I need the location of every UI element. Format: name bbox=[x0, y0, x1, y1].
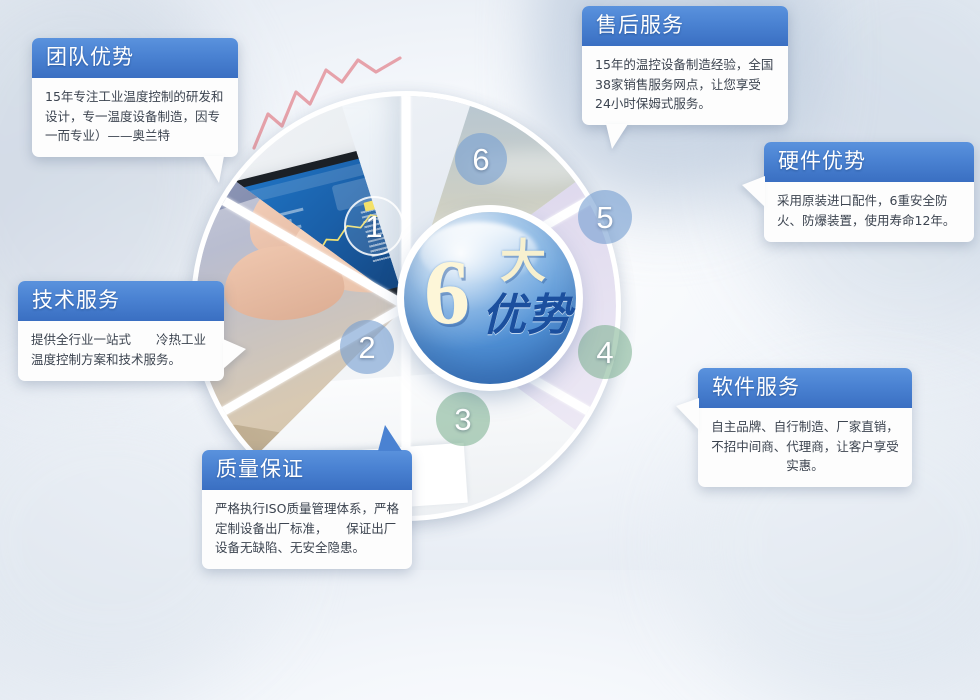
callout-hardware-title: 硬件优势 bbox=[764, 142, 974, 182]
callout-quality-tail bbox=[378, 425, 402, 451]
segment-number-5-label: 5 bbox=[596, 202, 613, 233]
callout-technical-body: 提供全行业一站式 冷热工业温度控制方案和技术服务。 bbox=[18, 321, 224, 381]
segment-number-3-label: 3 bbox=[454, 404, 471, 435]
callout-after-sales-tail bbox=[606, 124, 628, 149]
segment-number-6[interactable]: 6 bbox=[455, 133, 507, 185]
segment-number-3[interactable]: 3 bbox=[436, 392, 490, 446]
infographic-page: { "page": { "width": 980, "height": 570,… bbox=[0, 0, 980, 570]
callout-quality-body: 严格执行ISO质量管理体系，严格定制设备出厂标准， 保证出厂设备无缺陷、无安全隐… bbox=[202, 490, 412, 569]
segment-number-1-label: 1 bbox=[365, 211, 382, 242]
callout-hardware[interactable]: 硬件优势 采用原装进口配件，6重安全防火、防爆装置，使用寿命12年。 bbox=[764, 142, 974, 242]
callout-team[interactable]: 团队优势 15年专注工业温度控制的研发和设计，专一温度设备制造，因专一而专业）—… bbox=[32, 38, 238, 157]
callout-team-tail bbox=[203, 156, 224, 183]
callout-quality-title: 质量保证 bbox=[202, 450, 412, 490]
segment-number-4[interactable]: 4 bbox=[578, 325, 632, 379]
callout-hardware-body: 采用原装进口配件，6重安全防火、防爆装置，使用寿命12年。 bbox=[764, 182, 974, 242]
logo-label: 优势 bbox=[482, 294, 572, 338]
segment-number-4-label: 4 bbox=[596, 337, 613, 368]
callout-technical-tail bbox=[223, 339, 246, 369]
segment-number-2-label: 2 bbox=[358, 332, 375, 363]
callout-software-body: 自主品牌、自行制造、厂家直销，不招中间商、代理商，让客户享受实惠。 bbox=[698, 408, 912, 487]
callout-quality[interactable]: 质量保证 严格执行ISO质量管理体系，严格定制设备出厂标准， 保证出厂设备无缺陷… bbox=[202, 450, 412, 569]
callout-after-sales-body: 15年的温控设备制造经验，全国38家销售服务网点，让您享受24小时保姆式服务。 bbox=[582, 46, 788, 125]
callout-team-title: 团队优势 bbox=[32, 38, 238, 78]
callout-technical-title: 技术服务 bbox=[18, 281, 224, 321]
callout-hardware-tail bbox=[742, 176, 765, 207]
callout-after-sales-title: 售后服务 bbox=[582, 6, 788, 46]
segment-number-5[interactable]: 5 bbox=[578, 190, 632, 244]
callout-technical[interactable]: 技术服务 提供全行业一站式 冷热工业温度控制方案和技术服务。 bbox=[18, 281, 224, 381]
segment-number-1[interactable]: 1 bbox=[344, 196, 404, 256]
segment-number-2[interactable]: 2 bbox=[340, 320, 394, 374]
logo-big-char: 大 bbox=[500, 238, 546, 284]
callout-software[interactable]: 软件服务 自主品牌、自行制造、厂家直销，不招中间商、代理商，让客户享受实惠。 bbox=[698, 368, 912, 487]
callout-after-sales[interactable]: 售后服务 15年的温控设备制造经验，全国38家销售服务网点，让您享受24小时保姆… bbox=[582, 6, 788, 125]
logo-number: 6 bbox=[424, 246, 470, 338]
callout-team-body: 15年专注工业温度控制的研发和设计，专一温度设备制造，因专一而专业）——奥兰特 bbox=[32, 78, 238, 157]
callout-software-tail bbox=[676, 398, 699, 430]
segment-number-6-label: 6 bbox=[472, 144, 489, 175]
callout-software-title: 软件服务 bbox=[698, 368, 912, 408]
center-logo[interactable]: 6 大 优势 bbox=[404, 212, 576, 384]
